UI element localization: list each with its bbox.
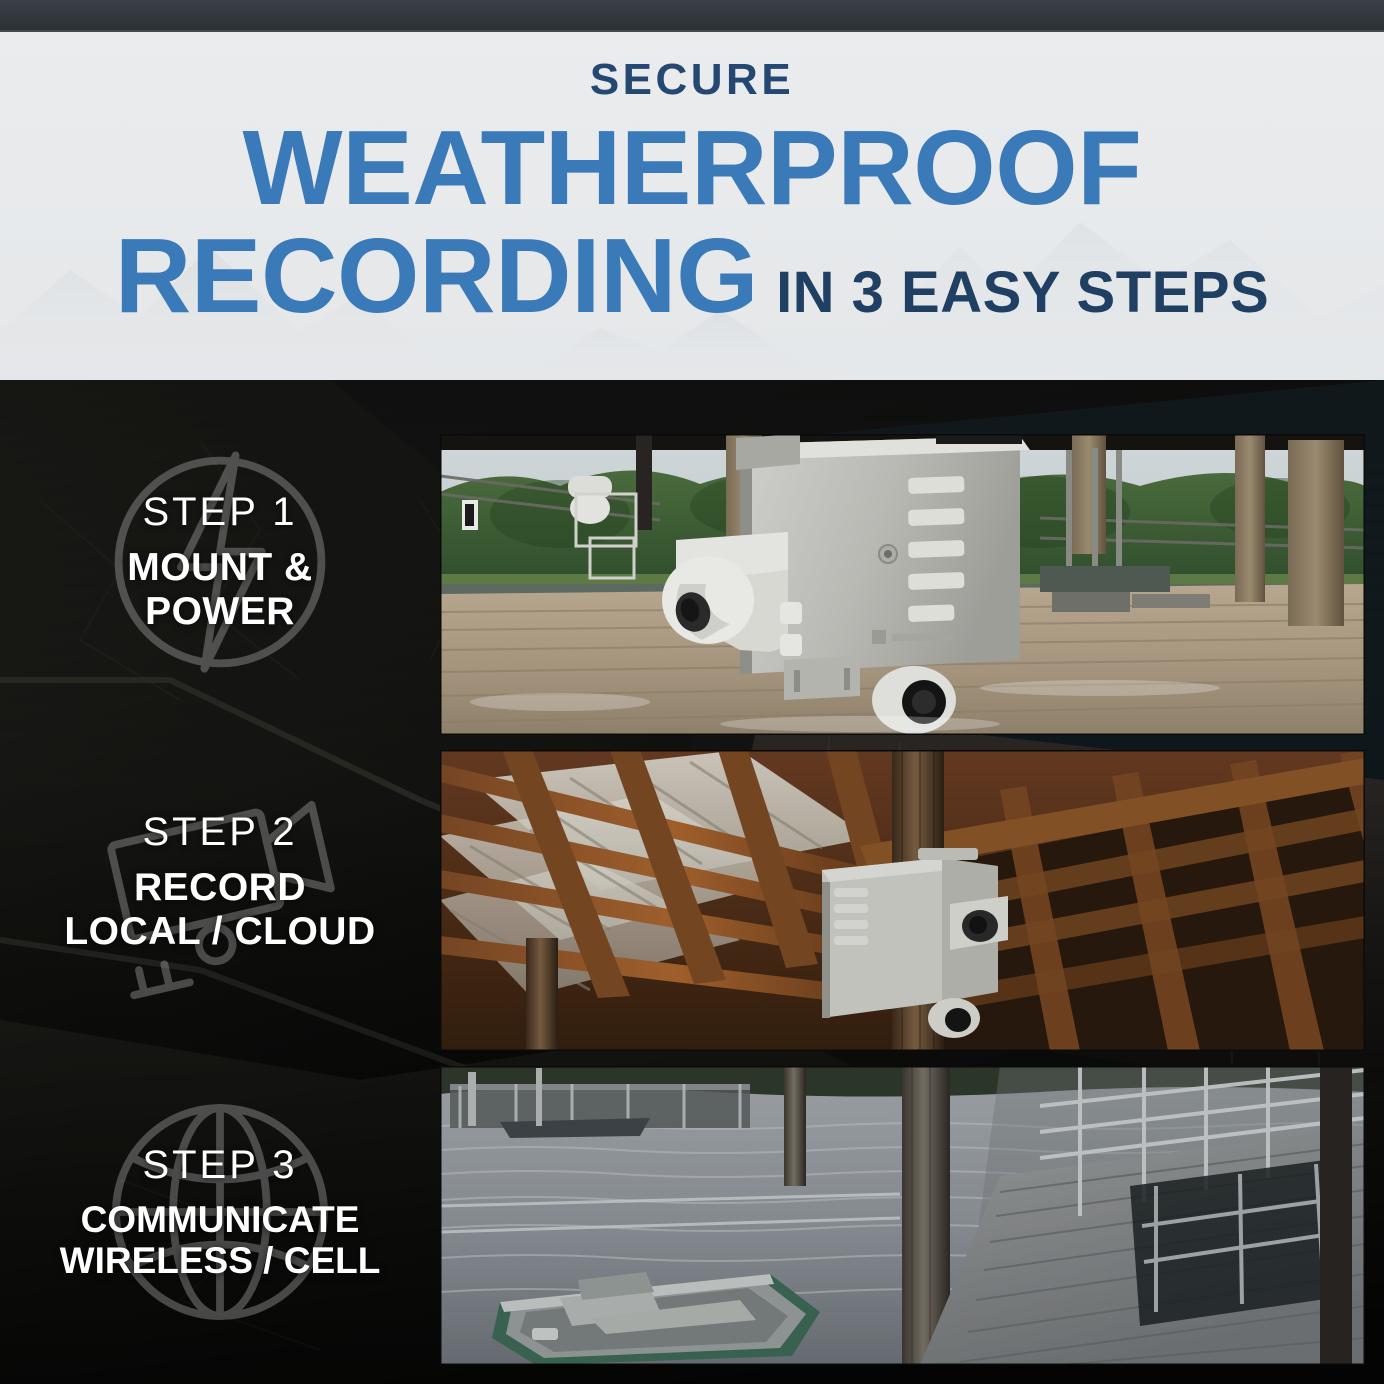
step-1-photo	[440, 434, 1365, 735]
page-headline-line3: RECORDING IN 3 EASY STEPS	[115, 220, 1269, 332]
step-1-text: STEP 1 MOUNT & POWER	[0, 490, 440, 633]
page-headline-recording: RECORDING	[115, 220, 758, 332]
step-3-text: STEP 3 COMMUNICATE WIRELESS / CELL	[0, 1143, 440, 1282]
step-2-photo	[440, 750, 1365, 1051]
photo-column	[440, 434, 1365, 1365]
step-3-label: STEP 3	[0, 1143, 440, 1187]
step-2-text: STEP 2 RECORD LOCAL / CLOUD	[0, 810, 440, 953]
step-item-3: STEP 3 COMMUNICATE WIRELESS / CELL	[0, 1042, 440, 1382]
infographic-poster: SECURE WEATHERPROOF RECORDING IN 3 EASY …	[0, 0, 1384, 1384]
top-bar	[0, 0, 1384, 32]
step-2-title-line2: LOCAL / CLOUD	[14, 910, 426, 954]
step-3-title-line2: WIRELESS / CELL	[6, 1240, 434, 1281]
page-headline-subtail: IN 3 EASY STEPS	[776, 264, 1269, 322]
step-3-title: COMMUNICATE WIRELESS / CELL	[0, 1199, 440, 1282]
step-2-title: RECORD LOCAL / CLOUD	[0, 866, 440, 953]
steps-column: STEP 1 MOUNT & POWER	[0, 380, 440, 1384]
page-headline-line2: WEATHERPROOF	[243, 112, 1142, 224]
step-item-2: STEP 2 RECORD LOCAL / CLOUD	[0, 722, 440, 1042]
body-area: STEP 1 MOUNT & POWER	[0, 380, 1384, 1384]
step-1-title: MOUNT & POWER	[0, 546, 440, 633]
step-2-title-line1: RECORD	[14, 866, 426, 910]
step-3-title-line1: COMMUNICATE	[6, 1199, 434, 1240]
step-1-title-line2: POWER	[14, 590, 426, 634]
step-item-1: STEP 1 MOUNT & POWER	[0, 402, 440, 722]
step-3-photo	[440, 1066, 1365, 1365]
page-kicker: SECURE	[590, 58, 794, 102]
step-1-title-line1: MOUNT &	[14, 546, 426, 590]
header-band: SECURE WEATHERPROOF RECORDING IN 3 EASY …	[0, 32, 1384, 380]
step-2-label: STEP 2	[0, 810, 440, 854]
step-1-label: STEP 1	[0, 490, 440, 534]
